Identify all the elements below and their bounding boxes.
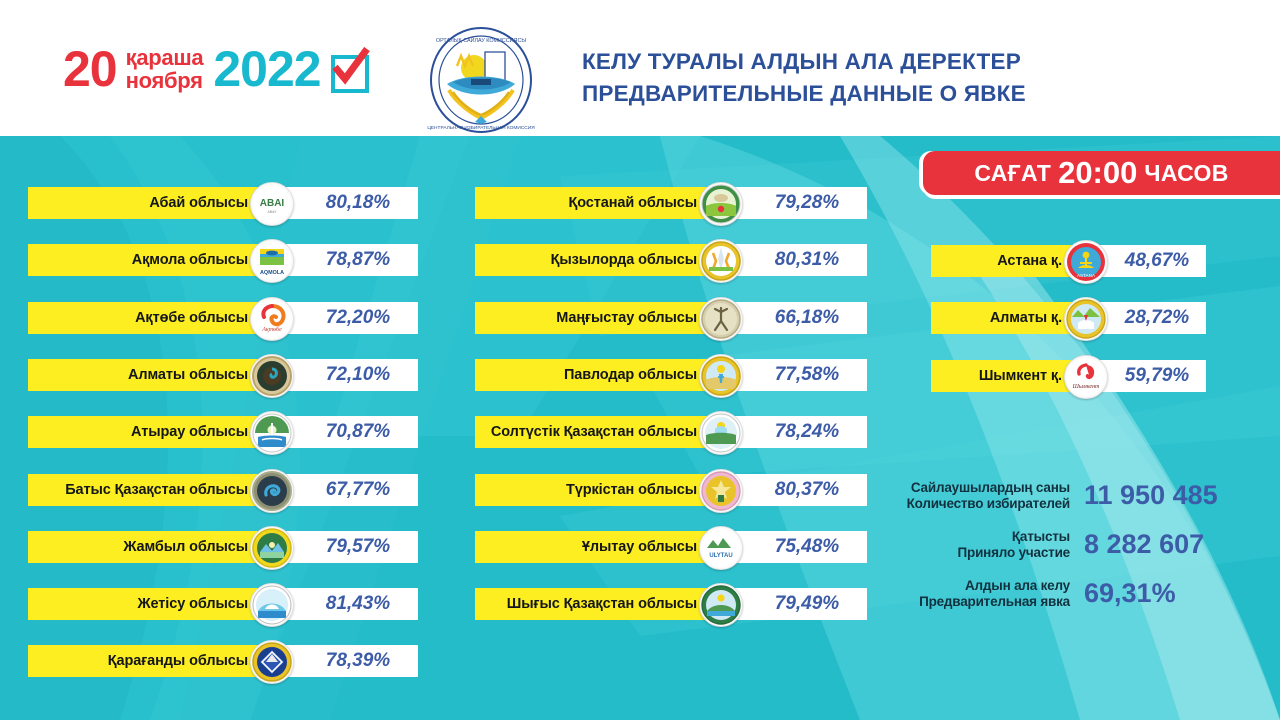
date-day: 20 [63, 44, 117, 94]
turnout-percent: 75,48% [775, 536, 839, 558]
summary-label-ru: Количество избирателей [880, 496, 1070, 512]
region-row[interactable]: Жетісу облысы81,43% [28, 588, 418, 620]
turnout-percent: 78,24% [775, 421, 839, 443]
region-name: Алматы қ. [990, 310, 1062, 326]
turnout-percent: 70,87% [326, 421, 390, 443]
turnout-percent: 79,57% [326, 536, 390, 558]
pavlodar-region-emblem [699, 354, 743, 398]
region-name: Атырау облысы [131, 424, 248, 440]
header-title-kk: КЕЛУ ТУРАЛЫ АЛДЫН АЛА ДЕРЕКТЕР [582, 46, 1026, 78]
region-name: Ақтөбе облысы [135, 310, 248, 326]
svg-text:ULYTAU: ULYTAU [709, 553, 732, 559]
region-name-cell: Павлодар облысы [475, 359, 709, 391]
time-banner-suffix: ЧАСОВ [1144, 160, 1228, 187]
turnout-percent: 79,49% [775, 593, 839, 615]
region-name: Жамбыл облысы [123, 539, 248, 555]
region-row[interactable]: Қостанай облысы79,28% [475, 187, 867, 219]
summary-label-ru: Приняло участие [880, 545, 1070, 561]
date-month-ru: ноября [126, 69, 204, 92]
region-row[interactable]: Ұлытау облысы75,48%ULYTAU [475, 531, 867, 563]
akmola-region-emblem: AQMOLA [250, 239, 294, 283]
election-date: 20 қараша ноября 2022 [63, 38, 369, 100]
kyzylorda-region-emblem [699, 239, 743, 283]
east-kazakhstan-region-emblem [699, 583, 743, 627]
region-name: Қостанай облысы [568, 195, 697, 211]
region-name-cell: Батыс Қазақстан облысы [28, 474, 260, 506]
zhambyl-region-emblem [250, 526, 294, 570]
region-name-cell: Маңғыстау облысы [475, 302, 709, 334]
summary-value: 11 950 485 [1084, 480, 1218, 511]
shymkent-city-emblem: Шымкент [1064, 355, 1108, 399]
summary-value: 69,31% [1084, 578, 1176, 609]
date-year: 2022 [213, 44, 320, 94]
region-name-cell: Астана қ. [931, 245, 1074, 277]
turnout-percent: 77,58% [775, 364, 839, 386]
astana-city-emblem: ASTANA [1064, 240, 1108, 284]
infographic-root: 20 қараша ноября 2022 [0, 0, 1280, 720]
region-name: Қарағанды облысы [108, 653, 248, 669]
region-name-cell: Ақтөбе облысы [28, 302, 260, 334]
region-name-cell: Түркістан облысы [475, 474, 709, 506]
region-row[interactable]: Ақтөбе облысы72,20%Ақтөбе [28, 302, 418, 334]
region-name: Қызылорда облысы [551, 252, 697, 268]
turkistan-region-emblem [699, 469, 743, 513]
date-month-names: қараша ноября [126, 46, 204, 92]
svg-text:ASTANA: ASTANA [1077, 273, 1096, 278]
summary-labels: Алдын ала келуПредварительная явка [880, 578, 1084, 610]
summary-labels: Сайлаушылардың саныКоличество избирателе… [880, 480, 1084, 512]
region-name-cell: Ұлытау облысы [475, 531, 709, 563]
region-row[interactable]: Түркістан облысы80,37% [475, 474, 867, 506]
region-row[interactable]: Қарағанды облысы78,39% [28, 645, 418, 677]
turnout-percent: 66,18% [775, 307, 839, 329]
atyrau-region-emblem [250, 411, 294, 455]
region-name-cell: Солтүстік Қазақстан облысы [475, 416, 709, 448]
time-banner-prefix: САҒАТ [974, 160, 1051, 187]
region-row[interactable]: Абай облысы80,18%ABAIABAY [28, 187, 418, 219]
region-row[interactable]: Батыс Қазақстан облысы67,77% [28, 474, 418, 506]
turnout-percent: 78,39% [326, 650, 390, 672]
checkbox-check-icon [329, 49, 369, 89]
summary-value: 8 282 607 [1084, 529, 1204, 560]
region-name: Маңғыстау облысы [556, 310, 697, 326]
ulytau-region-emblem: ULYTAU [699, 526, 743, 570]
svg-text:ABAY: ABAY [267, 210, 277, 214]
header-bar: 20 қараша ноября 2022 [0, 0, 1280, 136]
region-name-cell: Алматы қ. [931, 302, 1074, 334]
region-name: Шығыс Қазақстан облысы [507, 596, 697, 612]
region-name: Солтүстік Қазақстан облысы [491, 424, 697, 440]
region-name: Павлодар облысы [564, 367, 697, 383]
region-row[interactable]: Маңғыстау облысы66,18% [475, 302, 867, 334]
svg-text:Шымкент: Шымкент [1072, 384, 1100, 390]
region-row[interactable]: Солтүстік Қазақстан облысы78,24% [475, 416, 867, 448]
region-name-cell: Шымкент қ. [931, 360, 1074, 392]
region-row[interactable]: Астана қ.48,67%ASTANA [931, 245, 1206, 277]
summary-label-kk: Алдын ала келу [880, 578, 1070, 594]
region-name-cell: Жетісу облысы [28, 588, 260, 620]
turnout-percent: 72,20% [326, 307, 390, 329]
zhetysu-region-emblem [250, 583, 294, 627]
summary-label-ru: Предварительная явка [880, 594, 1070, 610]
turnout-percent: 59,79% [1125, 365, 1189, 387]
summary-statistics: Сайлаушылардың саныКоличество избирателе… [880, 480, 1270, 627]
west-kazakhstan-region-emblem [250, 469, 294, 513]
region-name-cell: Қызылорда облысы [475, 244, 709, 276]
region-row[interactable]: Алматы облысы72,10% [28, 359, 418, 391]
turnout-percent: 28,72% [1125, 307, 1189, 329]
turnout-percent: 80,31% [775, 249, 839, 271]
region-name-cell: Қостанай облысы [475, 187, 709, 219]
region-name-cell: Жамбыл облысы [28, 531, 260, 563]
turnout-percent: 80,37% [775, 479, 839, 501]
almaty-region-emblem [250, 354, 294, 398]
region-name-cell: Алматы облысы [28, 359, 260, 391]
region-name-cell: Атырау облысы [28, 416, 260, 448]
summary-row: Алдын ала келуПредварительная явка69,31% [880, 578, 1270, 610]
turnout-percent: 80,18% [326, 192, 390, 214]
region-row[interactable]: Шымкент қ.59,79%Шымкент [931, 360, 1206, 392]
region-name: Түркістан облысы [566, 482, 697, 498]
time-banner: САҒАТ 20:00 ЧАСОВ [923, 151, 1280, 195]
region-name: Ұлытау облысы [582, 539, 697, 555]
time-banner-time: 20:00 [1058, 155, 1137, 191]
region-row[interactable]: Жамбыл облысы79,57% [28, 531, 418, 563]
kostanay-region-emblem [699, 182, 743, 226]
region-row[interactable]: Ақмола облысы78,87%AQMOLA [28, 244, 418, 276]
date-month-kk: қараша [126, 46, 204, 69]
summary-row: Сайлаушылардың саныКоличество избирателе… [880, 480, 1270, 512]
region-row[interactable]: Павлодар облысы77,58% [475, 359, 867, 391]
north-kazakhstan-region-emblem [699, 411, 743, 455]
region-name-cell: Қарағанды облысы [28, 645, 260, 677]
mangystau-region-emblem [699, 297, 743, 341]
summary-label-kk: Сайлаушылардың саны [880, 480, 1070, 496]
summary-labels: ҚатыстыПриняло участие [880, 529, 1084, 561]
almaty-city-emblem [1064, 297, 1108, 341]
turnout-percent: 48,67% [1125, 250, 1189, 272]
region-name: Алматы облысы [128, 367, 248, 383]
region-row[interactable]: Атырау облысы70,87% [28, 416, 418, 448]
region-name: Астана қ. [997, 253, 1062, 269]
svg-text:Ақтөбе: Ақтөбе [261, 326, 282, 333]
header-title-ru: ПРЕДВАРИТЕЛЬНЫЕ ДАННЫЕ О ЯВКЕ [582, 78, 1026, 110]
region-row[interactable]: Алматы қ.28,72% [931, 302, 1206, 334]
cec-kazakhstan-emblem: ОРТАЛЫҚ САЙЛАУ КОМИССИЯСЫ ЦЕНТРАЛЬНАЯ ИЗ… [427, 26, 535, 134]
region-name-cell: Ақмола облысы [28, 244, 260, 276]
svg-text:ABAI: ABAI [260, 198, 285, 209]
region-name: Батыс Қазақстан облысы [65, 482, 248, 498]
abai-region-emblem: ABAIABAY [250, 182, 294, 226]
region-name: Жетісу облысы [138, 596, 248, 612]
summary-label-kk: Қатысты [880, 529, 1070, 545]
turnout-percent: 78,87% [326, 249, 390, 271]
region-name-cell: Абай облысы [28, 187, 260, 219]
region-name: Ақмола облысы [132, 252, 248, 268]
region-row[interactable]: Қызылорда облысы80,31% [475, 244, 867, 276]
turnout-percent: 81,43% [326, 593, 390, 615]
region-name: Шымкент қ. [979, 368, 1062, 384]
region-name-cell: Шығыс Қазақстан облысы [475, 588, 709, 620]
svg-text:AQMOLA: AQMOLA [260, 270, 284, 276]
aktobe-region-emblem: Ақтөбе [250, 297, 294, 341]
header-titles: КЕЛУ ТУРАЛЫ АЛДЫН АЛА ДЕРЕКТЕР ПРЕДВАРИТ… [582, 46, 1026, 110]
svg-text:ОРТАЛЫҚ САЙЛАУ КОМИССИЯСЫ: ОРТАЛЫҚ САЙЛАУ КОМИССИЯСЫ [436, 36, 526, 44]
region-name: Абай облысы [149, 195, 248, 211]
region-row[interactable]: Шығыс Қазақстан облысы79,49% [475, 588, 867, 620]
summary-row: ҚатыстыПриняло участие8 282 607 [880, 529, 1270, 561]
turnout-percent: 79,28% [775, 192, 839, 214]
turnout-percent: 67,77% [326, 479, 390, 501]
turnout-percent: 72,10% [326, 364, 390, 386]
svg-text:ЦЕНТРАЛЬНАЯ ИЗБИРАТЕЛЬНАЯ КОМИ: ЦЕНТРАЛЬНАЯ ИЗБИРАТЕЛЬНАЯ КОМИССИЯ [427, 125, 535, 131]
